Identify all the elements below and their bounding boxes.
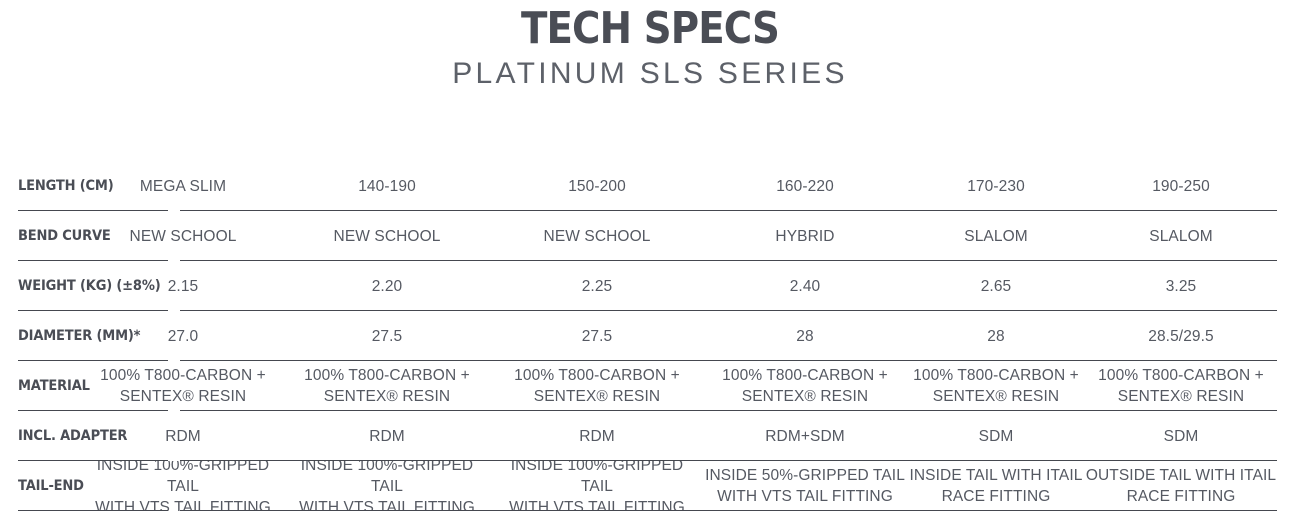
table-cell: 27.0	[83, 311, 283, 361]
cell-text: 2.25	[582, 276, 613, 297]
table-cell: 3.25	[1081, 261, 1281, 311]
table-cell: SDM	[896, 411, 1096, 461]
cell-text: 100% T800-CARBON +SENTEX® RESIN	[913, 365, 1079, 407]
cell-text: 160-220	[776, 176, 834, 197]
cell-text: SLALOM	[1149, 226, 1213, 247]
table-cell: RDM	[83, 411, 283, 461]
table-cell: HYBRID	[705, 211, 905, 261]
table-cell: 27.5	[287, 311, 487, 361]
row-divider-data	[180, 510, 1277, 511]
cell-text: 27.0	[168, 326, 199, 347]
table-cell: SDM	[1081, 411, 1281, 461]
table-cell: 100% T800-CARBON +SENTEX® RESIN	[497, 361, 697, 411]
cell-text: 100% T800-CARBON +SENTEX® RESIN	[1098, 365, 1264, 407]
page-title: TECH SPECS	[78, 4, 1222, 54]
cell-text: 170-230	[967, 176, 1025, 197]
table-cell: 100% T800-CARBON +SENTEX® RESIN	[896, 361, 1096, 411]
cell-text: 150-200	[568, 176, 626, 197]
table-row: TAIL-ENDINSIDE 100%-GRIPPED TAILWITH VTS…	[0, 461, 1300, 511]
table-cell: 190-250	[1081, 161, 1281, 211]
table-cell: 170-230	[896, 161, 1096, 211]
cell-text: INSIDE 100%-GRIPPED TAILWITH VTS TAIL FI…	[83, 461, 283, 511]
cell-text: SDM	[979, 426, 1014, 447]
table-cell: NEW SCHOOL	[83, 211, 283, 261]
table-cell: 150-200	[497, 161, 697, 211]
table-cell: 2.20	[287, 261, 487, 311]
cell-text: RDM+SDM	[765, 426, 845, 447]
cell-text: 27.5	[582, 326, 613, 347]
table-row: DIAMETER (MM)*27.027.527.5282828.5/29.5	[0, 311, 1300, 361]
cell-text: RDM	[165, 426, 201, 447]
cell-text: 28	[987, 326, 1004, 347]
cell-text: SLALOM	[964, 226, 1028, 247]
table-row: BEND CURVENEW SCHOOLNEW SCHOOLNEW SCHOOL…	[0, 211, 1300, 261]
cell-text: 140-190	[358, 176, 416, 197]
row-cells: MEGA SLIM140-190150-200160-220170-230190…	[0, 161, 1300, 211]
page-subtitle: PLATINUM SLS SERIES	[0, 56, 1300, 92]
cell-text: SDM	[1164, 426, 1199, 447]
cell-text: 100% T800-CARBON +SENTEX® RESIN	[514, 365, 680, 407]
table-cell: INSIDE 100%-GRIPPED TAILWITH VTS TAIL FI…	[83, 461, 283, 511]
table-cell: SLALOM	[896, 211, 1096, 261]
cell-text: OUTSIDE TAIL WITH ITAILRACE FITTING	[1086, 465, 1276, 507]
table-cell: 2.40	[705, 261, 905, 311]
cell-text: 28.5/29.5	[1148, 326, 1214, 347]
tech-specs-table: LENGTH (CM)MEGA SLIM140-190150-200160-22…	[0, 161, 1300, 511]
cell-text: 100% T800-CARBON +SENTEX® RESIN	[100, 365, 266, 407]
row-divider-label	[18, 510, 168, 511]
table-cell: RDM+SDM	[705, 411, 905, 461]
row-cells: NEW SCHOOLNEW SCHOOLNEW SCHOOLHYBRIDSLAL…	[0, 211, 1300, 261]
table-cell: 100% T800-CARBON +SENTEX® RESIN	[1081, 361, 1281, 411]
cell-text: 190-250	[1152, 176, 1210, 197]
table-cell: 2.25	[497, 261, 697, 311]
cell-text: MEGA SLIM	[140, 176, 226, 197]
table-cell: 27.5	[497, 311, 697, 361]
table-row: WEIGHT (KG) (±8%)2.152.202.252.402.653.2…	[0, 261, 1300, 311]
table-cell: INSIDE 100%-GRIPPED TAILWITH VTS TAIL FI…	[497, 461, 697, 511]
cell-text: HYBRID	[775, 226, 834, 247]
row-cells: 2.152.202.252.402.653.25	[0, 261, 1300, 311]
table-cell: 100% T800-CARBON +SENTEX® RESIN	[83, 361, 283, 411]
table-cell: NEW SCHOOL	[287, 211, 487, 261]
table-cell: 160-220	[705, 161, 905, 211]
table-cell: 28.5/29.5	[1081, 311, 1281, 361]
table-cell: 100% T800-CARBON +SENTEX® RESIN	[705, 361, 905, 411]
cell-text: INSIDE 100%-GRIPPED TAILWITH VTS TAIL FI…	[287, 461, 487, 511]
table-row: LENGTH (CM)MEGA SLIM140-190150-200160-22…	[0, 161, 1300, 211]
table-cell: 100% T800-CARBON +SENTEX® RESIN	[287, 361, 487, 411]
table-cell: NEW SCHOOL	[497, 211, 697, 261]
table-cell: RDM	[287, 411, 487, 461]
cell-text: INSIDE 100%-GRIPPED TAILWITH VTS TAIL FI…	[497, 461, 697, 511]
cell-text: 27.5	[372, 326, 403, 347]
cell-text: RDM	[579, 426, 615, 447]
table-cell: MEGA SLIM	[83, 161, 283, 211]
row-cells: 100% T800-CARBON +SENTEX® RESIN100% T800…	[0, 361, 1300, 411]
row-cells: INSIDE 100%-GRIPPED TAILWITH VTS TAIL FI…	[0, 461, 1300, 511]
cell-text: RDM	[369, 426, 405, 447]
cell-text: NEW SCHOOL	[130, 226, 237, 247]
cell-text: 2.65	[981, 276, 1012, 297]
cell-text: INSIDE TAIL WITH ITAILRACE FITTING	[909, 465, 1082, 507]
cell-text: 100% T800-CARBON +SENTEX® RESIN	[722, 365, 888, 407]
cell-text: INSIDE 50%-GRIPPED TAILWITH VTS TAIL FIT…	[705, 465, 905, 507]
table-row: MATERIAL100% T800-CARBON +SENTEX® RESIN1…	[0, 361, 1300, 411]
cell-text: NEW SCHOOL	[334, 226, 441, 247]
cell-text: 2.15	[168, 276, 199, 297]
row-cells: RDMRDMRDMRDM+SDMSDMSDM	[0, 411, 1300, 461]
table-cell: 2.65	[896, 261, 1096, 311]
table-cell: 2.15	[83, 261, 283, 311]
table-cell: INSIDE 100%-GRIPPED TAILWITH VTS TAIL FI…	[287, 461, 487, 511]
cell-text: 2.40	[790, 276, 821, 297]
cell-text: 2.20	[372, 276, 403, 297]
table-cell: 28	[896, 311, 1096, 361]
row-cells: 27.027.527.5282828.5/29.5	[0, 311, 1300, 361]
table-cell: INSIDE TAIL WITH ITAILRACE FITTING	[896, 461, 1096, 511]
table-cell: INSIDE 50%-GRIPPED TAILWITH VTS TAIL FIT…	[705, 461, 905, 511]
page-header: TECH SPECS PLATINUM SLS SERIES	[0, 0, 1300, 92]
cell-text: 28	[796, 326, 813, 347]
table-cell: SLALOM	[1081, 211, 1281, 261]
table-cell: RDM	[497, 411, 697, 461]
cell-text: 100% T800-CARBON +SENTEX® RESIN	[304, 365, 470, 407]
cell-text: 3.25	[1166, 276, 1197, 297]
table-row: INCL. ADAPTERRDMRDMRDMRDM+SDMSDMSDM	[0, 411, 1300, 461]
table-cell: 28	[705, 311, 905, 361]
cell-text: NEW SCHOOL	[544, 226, 651, 247]
table-cell: OUTSIDE TAIL WITH ITAILRACE FITTING	[1081, 461, 1281, 511]
table-cell: 140-190	[287, 161, 487, 211]
